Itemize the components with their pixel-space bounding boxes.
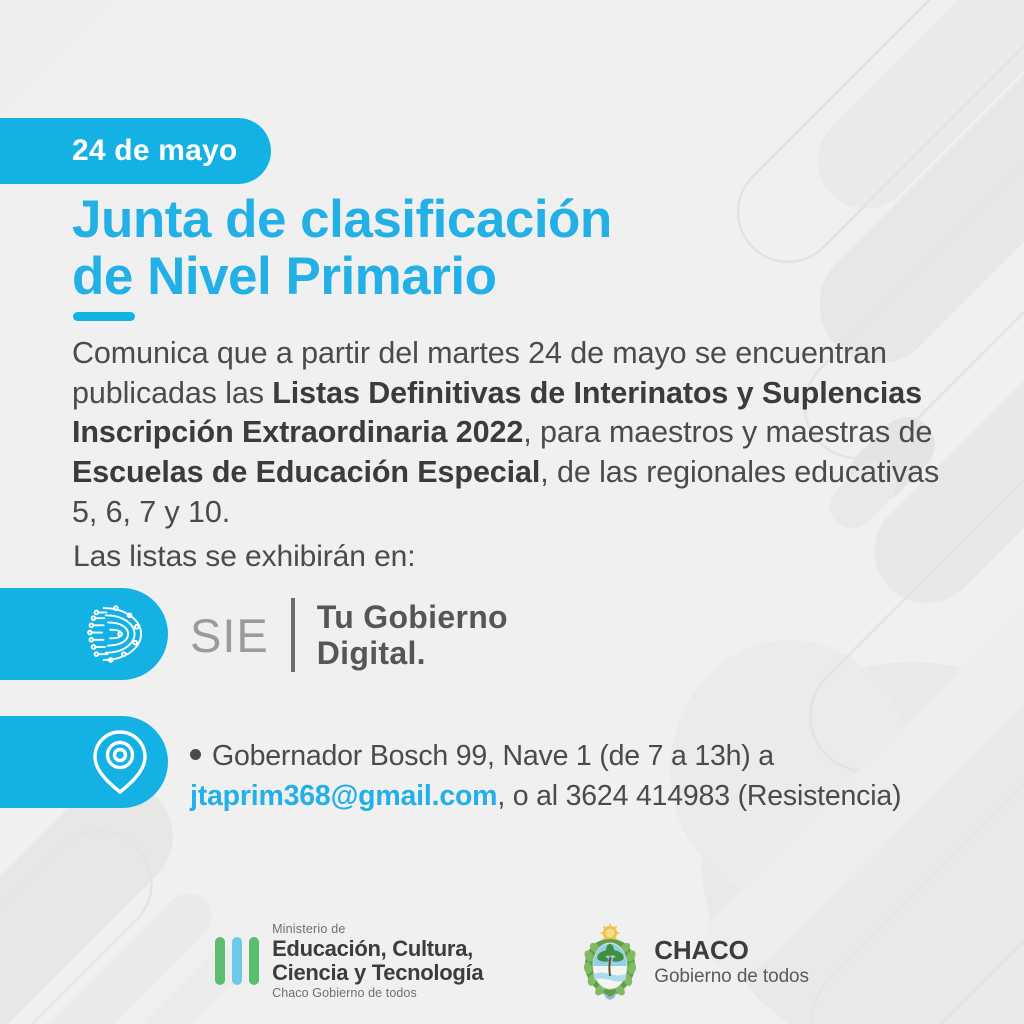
ministry-tagline: Chaco Gobierno de todos — [272, 987, 483, 1000]
ministry-name: Educación, Cultura, Ciencia y Tecnología — [272, 937, 483, 984]
body-text: , para maestros y maestras de — [523, 415, 932, 449]
exhibition-label: Las listas se exhibirán en: — [73, 540, 416, 574]
sie-circuit-fingerprint-icon — [82, 598, 154, 670]
ministry-bar-1 — [215, 937, 225, 985]
sie-wordmark: SIE Tu Gobierno Digital. — [190, 598, 508, 672]
ministry-bars-icon — [215, 937, 259, 985]
map-pin-icon — [90, 729, 150, 795]
contact-details: Gobernador Bosch 99, Nave 1 (de 7 a 13h)… — [190, 736, 980, 817]
page-title: Junta de clasificación de Nivel Primario — [72, 192, 612, 305]
body-emphasis: Escuelas de Educación Especial — [72, 455, 540, 489]
footer-logos: Ministerio de Educación, Cultura, Cienci… — [0, 918, 1024, 1004]
chaco-logo: CHACO Gobierno de todos — [579, 922, 809, 1000]
chaco-wordmark: CHACO Gobierno de todos — [654, 937, 809, 986]
chaco-tagline: Gobierno de todos — [654, 967, 809, 986]
chaco-coat-of-arms-icon — [579, 922, 641, 1000]
ministry-eyebrow: Ministerio de — [272, 923, 483, 936]
poster-canvas: 24 de mayo Junta de clasificación de Niv… — [0, 0, 1024, 1024]
sie-logo-tab — [0, 588, 168, 680]
ministry-bar-2 — [232, 937, 242, 985]
address-text: Gobernador Bosch 99, Nave 1 (de 7 a 13h)… — [212, 740, 774, 772]
location-icon-tab — [0, 716, 168, 808]
headline-underline — [73, 312, 135, 321]
date-badge: 24 de mayo — [0, 118, 271, 184]
ministry-bar-3 — [249, 937, 259, 985]
ministry-logo: Ministerio de Educación, Cultura, Cienci… — [215, 923, 483, 1000]
sie-slogan: Tu Gobierno Digital. — [317, 599, 508, 672]
sie-divider — [291, 598, 295, 672]
phone-text: , o al 3624 414983 (Resistencia) — [497, 780, 901, 812]
bullet-marker — [190, 749, 201, 760]
email-link[interactable]: jtaprim368@gmail.com — [190, 780, 497, 812]
date-badge-label: 24 de mayo — [72, 136, 237, 166]
sie-abbreviation: SIE — [190, 612, 269, 659]
body-paragraph: Comunica que a partir del martes 24 de m… — [72, 334, 964, 532]
ministry-wordmark: Ministerio de Educación, Cultura, Cienci… — [272, 923, 483, 1000]
chaco-name: CHACO — [654, 937, 809, 963]
